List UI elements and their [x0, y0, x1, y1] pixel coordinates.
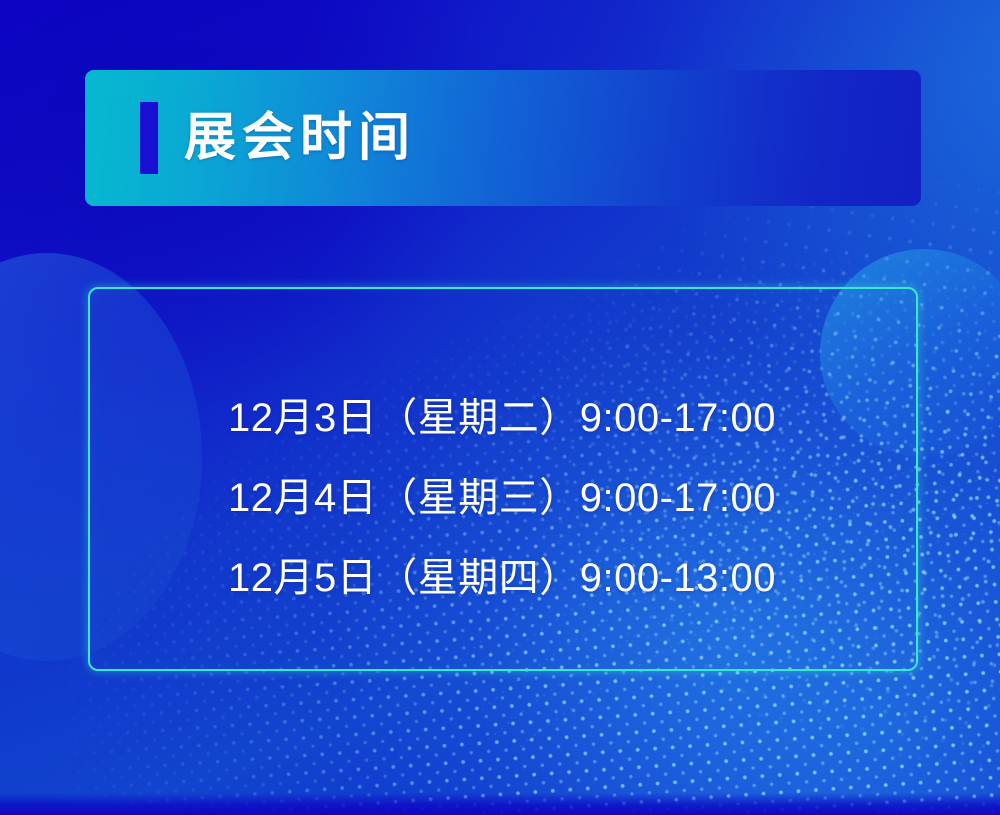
bottom-gradient-strip	[0, 793, 1000, 815]
exhibition-time-poster: 展会时间 12月3日（星期二）9:00-17:00 12月4日（星期三）9:00…	[0, 0, 1000, 815]
section-title-banner: 展会时间	[85, 70, 921, 206]
page-title: 展会时间	[184, 112, 416, 164]
banner-accent-bar	[140, 102, 158, 174]
schedule-list-item: 12月5日（星期四）9:00-13:00	[228, 538, 868, 618]
schedule-list: 12月3日（星期二）9:00-17:00 12月4日（星期三）9:00-17:0…	[228, 378, 868, 618]
schedule-list-item: 12月3日（星期二）9:00-17:00	[228, 378, 868, 458]
schedule-list-item: 12月4日（星期三）9:00-17:00	[228, 458, 868, 538]
